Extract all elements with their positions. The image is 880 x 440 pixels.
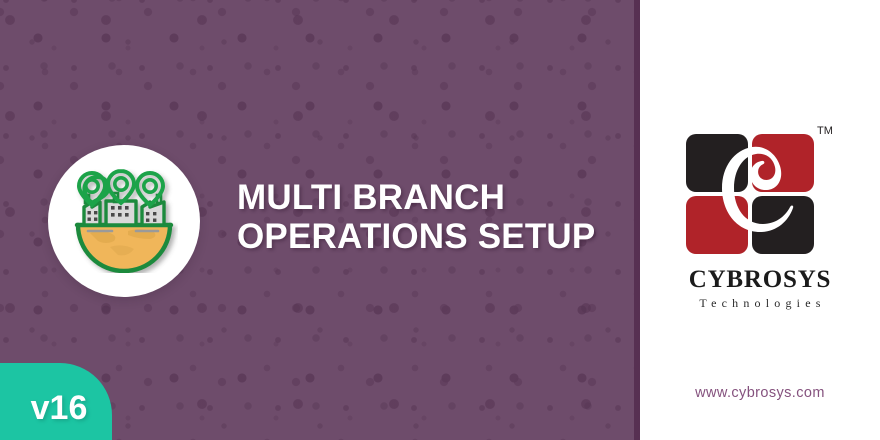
- logo-square-bottom-left: [686, 196, 748, 254]
- page-title: MULTI BRANCH OPERATIONS SETUP: [237, 178, 634, 256]
- trademark-symbol: TM: [817, 125, 833, 137]
- multi-branch-globe-icon: [70, 169, 178, 273]
- product-icon-badge: [48, 145, 200, 297]
- website-url[interactable]: www.cybrosys.com: [640, 385, 880, 401]
- right-panel: TM CYBROSYS Technologies www.cybrosys.co…: [640, 0, 880, 440]
- cybrosys-logo-mark: TM: [684, 120, 836, 256]
- promo-banner: MULTI BRANCH OPERATIONS SETUP v16: [0, 0, 880, 440]
- left-panel: MULTI BRANCH OPERATIONS SETUP v16: [0, 0, 634, 440]
- cybrosys-logo: TM: [684, 120, 836, 256]
- brand-name: CYBROSYS: [640, 266, 880, 293]
- version-badge-label: v16: [25, 379, 88, 425]
- page-title-line1: MULTI BRANCH: [237, 178, 634, 217]
- brand-tagline: Technologies: [640, 296, 880, 310]
- page-title-line2: OPERATIONS SETUP: [237, 217, 634, 256]
- brand-block: TM CYBROSYS Technologies: [640, 120, 880, 310]
